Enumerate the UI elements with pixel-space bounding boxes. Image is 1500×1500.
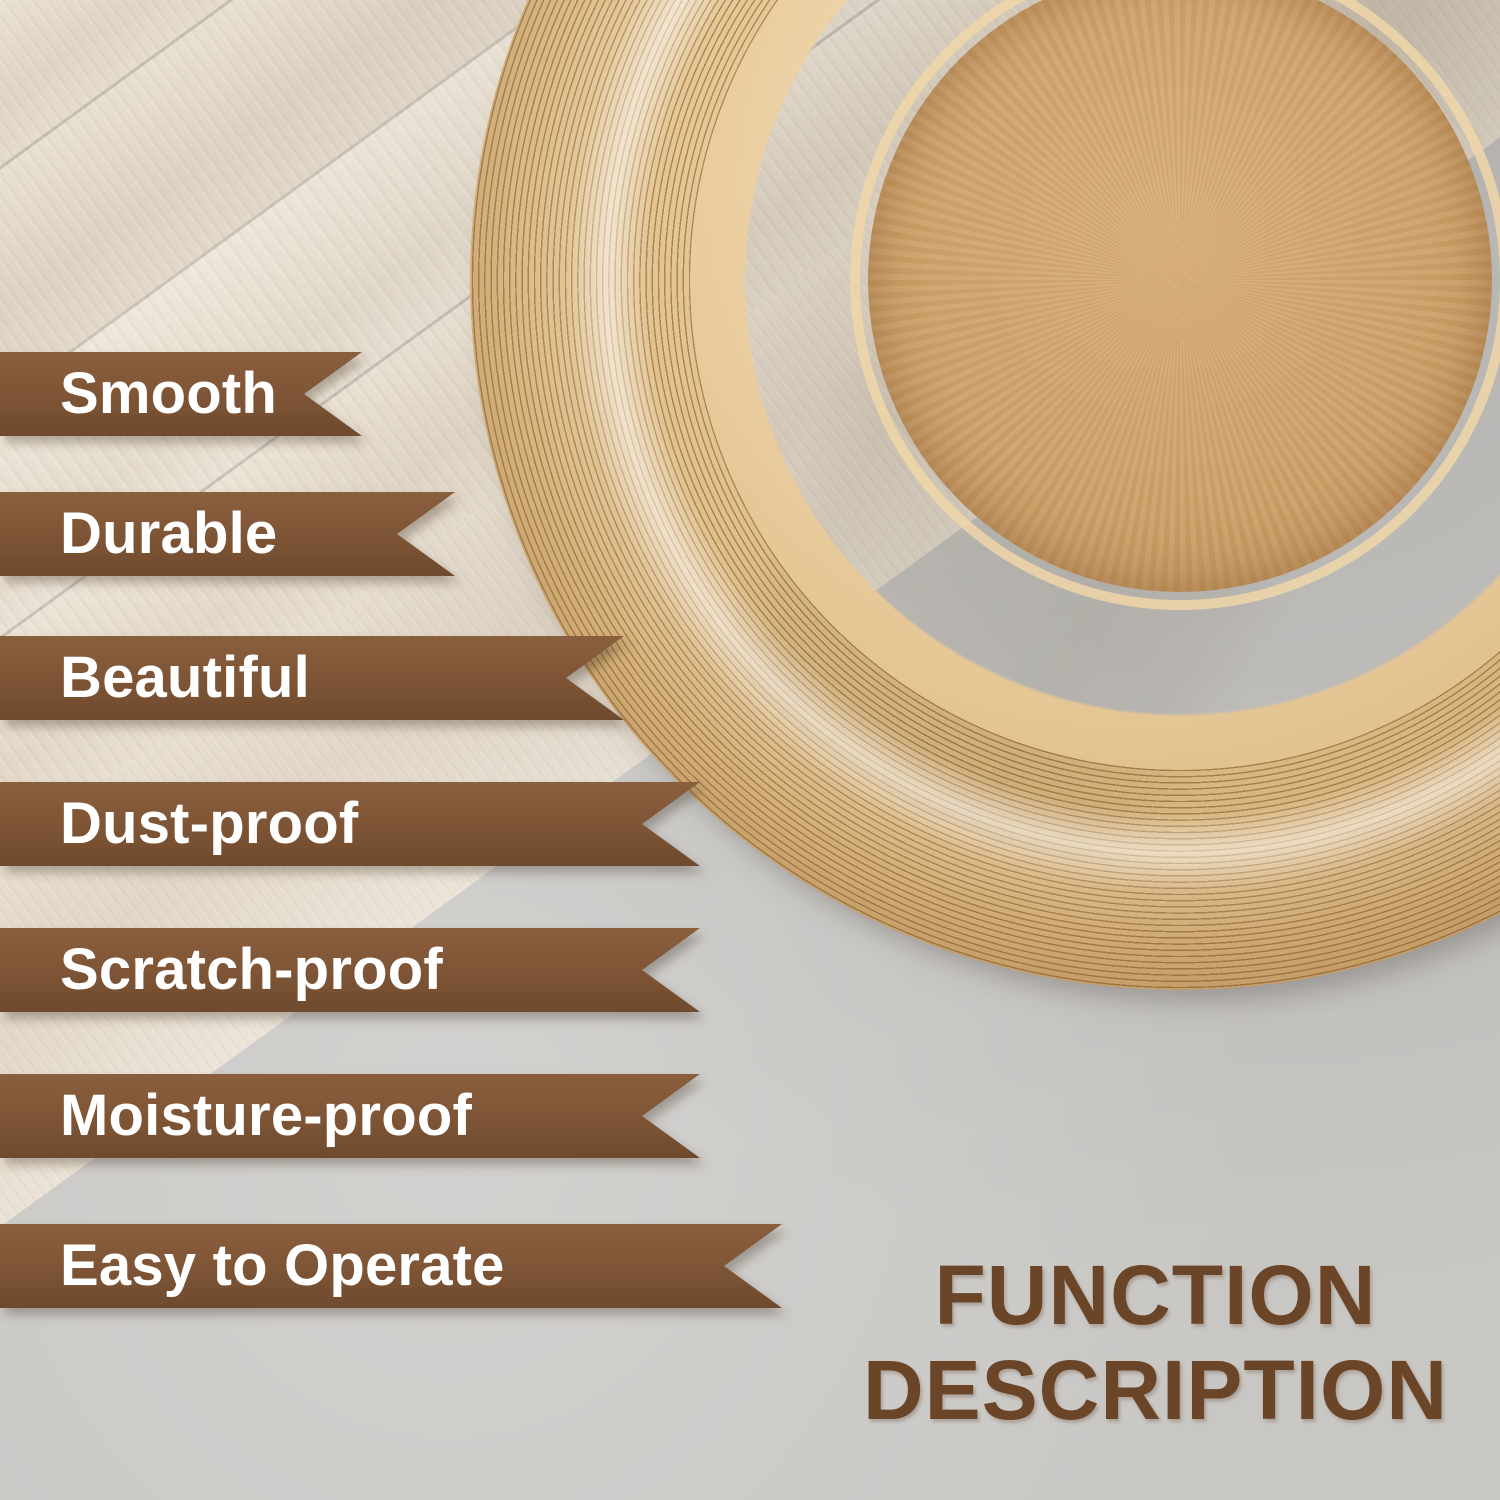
feature-label: Durable <box>0 505 277 563</box>
headline-line-1: FUNCTION <box>863 1248 1448 1343</box>
feature-label: Scratch-proof <box>0 941 443 999</box>
product-feature-image: Smooth Durable Beautiful Dust-proof Scra… <box>0 0 1500 1500</box>
feature-banner-easy-to-operate: Easy to Operate <box>0 1224 820 1308</box>
headline-function-description: FUNCTION DESCRIPTION <box>863 1248 1448 1438</box>
feature-banner-scratch-proof: Scratch-proof <box>0 928 820 1012</box>
headline-line-2: DESCRIPTION <box>863 1343 1448 1438</box>
feature-banner-list: Smooth Durable Beautiful Dust-proof Scra… <box>0 352 820 1380</box>
feature-label: Dust-proof <box>0 795 358 853</box>
feature-banner-moisture-proof: Moisture-proof <box>0 1074 820 1158</box>
feature-label: Easy to Operate <box>0 1237 505 1295</box>
feature-banner-dust-proof: Dust-proof <box>0 782 820 866</box>
feature-banner-beautiful: Beautiful <box>0 636 820 720</box>
feature-banner-smooth: Smooth <box>0 352 820 436</box>
feature-label: Moisture-proof <box>0 1087 472 1145</box>
feature-banner-durable: Durable <box>0 492 820 576</box>
feature-label: Smooth <box>0 365 277 423</box>
feature-label: Beautiful <box>0 649 310 707</box>
